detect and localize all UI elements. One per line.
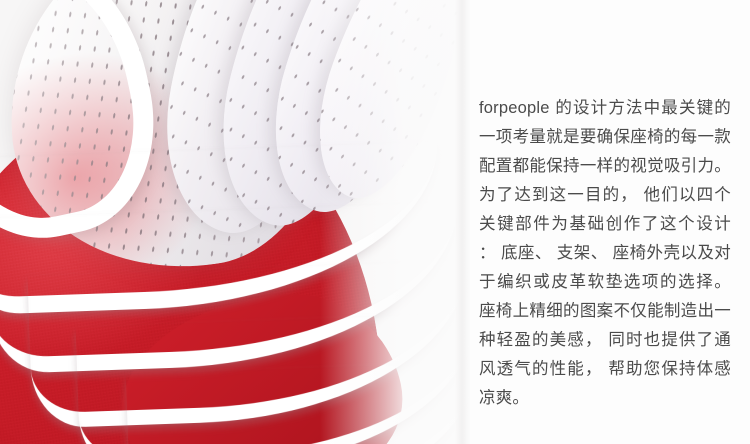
- description-text: 的设计方法中最关键的一项考量就是要确保座椅的每一款配置都能保持一样的视觉吸引力。…: [479, 99, 731, 407]
- product-detail-banner: forpeople 的设计方法中最关键的一项考量就是要确保座椅的每一款配置都能保…: [0, 0, 750, 444]
- description-paragraph: forpeople 的设计方法中最关键的一项考量就是要确保座椅的每一款配置都能保…: [479, 94, 731, 413]
- description-block: forpeople 的设计方法中最关键的一项考量就是要确保座椅的每一款配置都能保…: [479, 94, 731, 413]
- brand-name: forpeople: [479, 99, 550, 117]
- product-photo: [0, 0, 470, 444]
- arm-rail: [126, 362, 470, 444]
